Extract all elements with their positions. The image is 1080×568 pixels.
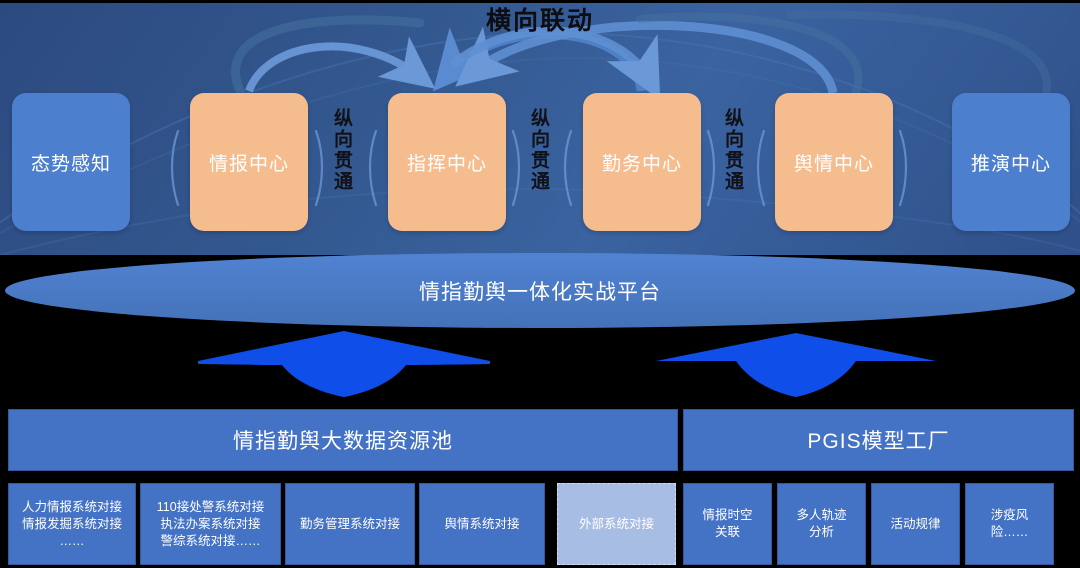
center-box-label: 舆情中心	[794, 149, 874, 176]
panel-title: 情指勤舆大数据资源池	[9, 410, 677, 470]
cell-external-system-docking[interactable]: 外部系统对接	[557, 483, 676, 565]
panel-big-data-pool[interactable]: 情指勤舆大数据资源池	[8, 409, 678, 471]
data-pool-up-arrow	[198, 331, 490, 399]
top-architecture-panel: 横向联动 态势感知 情报中心 指挥中心 勤务中心 舆情中心 推演中心 纵向贯通 …	[0, 3, 1080, 255]
vertical-link-label-2: 纵向贯通	[526, 108, 552, 192]
cell-human-intel-docking[interactable]: 人力情报系统对接 情报发掘系统对接 ……	[8, 483, 136, 565]
cell-activity-pattern[interactable]: 活动规律	[871, 483, 960, 565]
vertical-link-label-3: 纵向贯通	[720, 108, 746, 192]
center-box-deduction[interactable]: 推演中心	[952, 93, 1070, 231]
cell-label: 多人轨迹 分析	[796, 507, 846, 541]
cell-label: 人力情报系统对接 情报发掘系统对接 ……	[22, 499, 122, 550]
vertical-link-label-1: 纵向贯通	[329, 108, 355, 192]
cell-duty-management-docking[interactable]: 勤务管理系统对接	[285, 483, 415, 565]
center-box-situation-awareness[interactable]: 态势感知	[12, 93, 130, 231]
cell-epidemic-risk[interactable]: 涉疫风 险……	[965, 483, 1054, 565]
platform-label: 情指勤舆一体化实战平台	[419, 276, 661, 306]
panel-title: PGIS模型工厂	[684, 410, 1073, 470]
center-box-label: 推演中心	[971, 149, 1051, 176]
cell-110-alarm-docking[interactable]: 110接处警系统对接 执法办案系统对接 警综系统对接……	[140, 483, 281, 565]
center-box-label: 态势感知	[31, 149, 111, 176]
center-box-intelligence[interactable]: 情报中心	[190, 93, 308, 231]
center-box-label: 指挥中心	[407, 149, 487, 176]
cell-multi-person-trajectory-analysis[interactable]: 多人轨迹 分析	[777, 483, 866, 565]
center-box-duty[interactable]: 勤务中心	[583, 93, 701, 231]
center-box-public-opinion[interactable]: 舆情中心	[775, 93, 893, 231]
center-box-label: 情报中心	[209, 149, 289, 176]
center-box-label: 勤务中心	[602, 149, 682, 176]
center-box-command[interactable]: 指挥中心	[388, 93, 506, 231]
cell-intel-spatiotemporal-correlation[interactable]: 情报时空 关联	[683, 483, 772, 565]
cell-label: 勤务管理系统对接	[300, 516, 400, 533]
panel-pgis-model-factory[interactable]: PGIS模型工厂	[683, 409, 1074, 471]
cell-label: 活动规律	[890, 516, 940, 533]
cell-label: 情报时空 关联	[702, 507, 752, 541]
pgis-up-arrow	[650, 331, 942, 399]
integrated-platform-ellipse[interactable]: 情指勤舆一体化实战平台	[5, 253, 1075, 328]
cell-public-opinion-docking[interactable]: 舆情系统对接	[419, 483, 545, 565]
cell-label: 舆情系统对接	[444, 516, 519, 533]
page-title: 横向联动	[0, 5, 1080, 37]
cell-label: 涉疫风 险……	[991, 507, 1029, 541]
cell-label: 110接处警系统对接 执法办案系统对接 警综系统对接……	[157, 499, 264, 550]
diagram-canvas: 横向联动 态势感知 情报中心 指挥中心 勤务中心 舆情中心 推演中心 纵向贯通 …	[0, 0, 1080, 568]
cell-label: 外部系统对接	[579, 516, 654, 533]
